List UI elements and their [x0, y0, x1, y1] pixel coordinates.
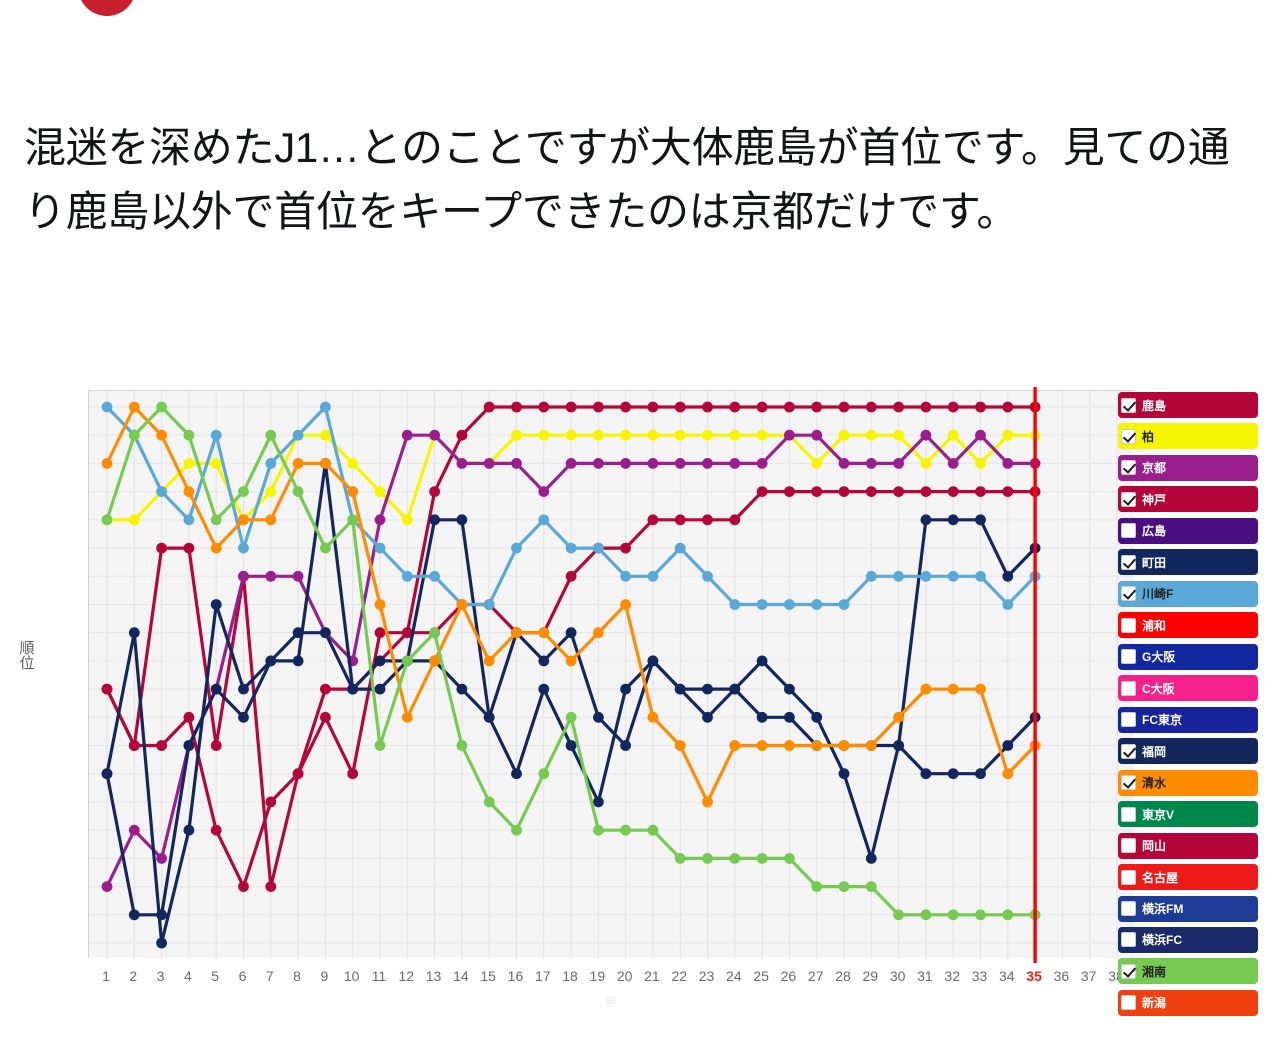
legend-item-鹿島[interactable]: 鹿島	[1118, 392, 1258, 418]
x-tick-label: 12	[393, 968, 419, 984]
page-root: 混迷を深めたJ1…とのことですが大体鹿島が首位です。見ての通り鹿島以外で首位をキ…	[0, 0, 1284, 1042]
series-line-0	[107, 407, 1035, 887]
legend-item-FC東京[interactable]: FC東京	[1118, 707, 1258, 733]
x-tick-label: 27	[803, 968, 829, 984]
legend-label: 町田	[1142, 554, 1166, 571]
x-tick-label: 16	[502, 968, 528, 984]
legend-label: 福岡	[1142, 743, 1166, 760]
x-tick-label: 35	[1021, 968, 1047, 984]
legend-label: 浦和	[1142, 617, 1166, 634]
x-tick-label: 22	[666, 968, 692, 984]
article-paragraph: 混迷を深めたJ1…とのことですが大体鹿島が首位です。見ての通り鹿島以外で首位をキ…	[24, 116, 1264, 244]
legend-label: C大阪	[1142, 680, 1175, 697]
legend-label: 横浜FC	[1142, 931, 1182, 948]
x-tick-label: 14	[448, 968, 474, 984]
x-tick-label: 23	[694, 968, 720, 984]
x-tick-label: 15	[475, 968, 501, 984]
legend-item-横浜FM[interactable]: 横浜FM	[1118, 896, 1258, 922]
x-tick-label: 37	[1076, 968, 1102, 984]
legend-item-町田[interactable]: 町田	[1118, 549, 1258, 575]
x-tick-label: 11	[366, 968, 392, 984]
legend-checkbox-icon[interactable]	[1121, 932, 1136, 947]
x-tick-label: 21	[639, 968, 665, 984]
legend-checkbox-icon[interactable]	[1121, 681, 1136, 696]
legend-checkbox-icon[interactable]	[1121, 649, 1136, 664]
x-tick-label: 7	[257, 968, 283, 984]
plot-area	[88, 390, 1134, 958]
x-tick-label: 4	[175, 968, 201, 984]
x-tick-label: 3	[148, 968, 174, 984]
legend-checkbox-icon[interactable]	[1121, 838, 1136, 853]
x-tick-label: 13	[421, 968, 447, 984]
legend-item-横浜FC[interactable]: 横浜FC	[1118, 927, 1258, 953]
x-axis-title: 節	[606, 994, 617, 1010]
red-circle-badge-icon	[78, 0, 136, 16]
legend-item-柏[interactable]: 柏	[1118, 423, 1258, 449]
x-tick-label: 18	[557, 968, 583, 984]
x-tick-label: 2	[120, 968, 146, 984]
legend-label: 川崎F	[1142, 585, 1173, 602]
legend-checkbox-icon[interactable]	[1121, 492, 1136, 507]
x-tick-label: 30	[885, 968, 911, 984]
legend-checkbox-icon[interactable]	[1121, 618, 1136, 633]
legend-item-京都[interactable]: 京都	[1118, 455, 1258, 481]
series-line-11	[107, 633, 1035, 915]
legend-label: 京都	[1142, 459, 1166, 476]
x-tick-label: 25	[748, 968, 774, 984]
legend-label: 柏	[1142, 428, 1154, 445]
team-legend[interactable]: 鹿島柏京都神戸広島町田川崎F浦和G大阪C大阪FC東京福岡清水東京V岡山名古屋横浜…	[1118, 392, 1258, 1016]
x-tick-label: 31	[912, 968, 938, 984]
legend-item-東京V[interactable]: 東京V	[1118, 801, 1258, 827]
legend-item-清水[interactable]: 清水	[1118, 770, 1258, 796]
legend-label: 東京V	[1142, 806, 1174, 823]
legend-label: 名古屋	[1142, 869, 1178, 886]
legend-label: 湘南	[1142, 963, 1166, 980]
x-tick-label: 20	[612, 968, 638, 984]
legend-label: 神戸	[1142, 491, 1166, 508]
legend-label: G大阪	[1142, 648, 1175, 665]
legend-item-岡山[interactable]: 岡山	[1118, 833, 1258, 859]
legend-item-湘南[interactable]: 湘南	[1118, 958, 1258, 984]
legend-item-G大阪[interactable]: G大阪	[1118, 644, 1258, 670]
legend-label: 広島	[1142, 522, 1166, 539]
legend-checkbox-icon[interactable]	[1121, 870, 1136, 885]
legend-item-福岡[interactable]: 福岡	[1118, 738, 1258, 764]
legend-label: FC東京	[1142, 711, 1182, 728]
x-tick-label: 34	[994, 968, 1020, 984]
legend-checkbox-icon[interactable]	[1121, 807, 1136, 822]
legend-label: 横浜FM	[1142, 900, 1183, 917]
x-tick-label: 8	[284, 968, 310, 984]
legend-checkbox-icon[interactable]	[1121, 744, 1136, 759]
x-tick-label: 6	[229, 968, 255, 984]
legend-label: 岡山	[1142, 837, 1166, 854]
legend-checkbox-icon[interactable]	[1121, 995, 1136, 1010]
legend-checkbox-icon[interactable]	[1121, 712, 1136, 727]
x-tick-label: 36	[1048, 968, 1074, 984]
x-tick-label: 26	[775, 968, 801, 984]
x-tick-label: 10	[339, 968, 365, 984]
x-tick-label: 33	[967, 968, 993, 984]
legend-checkbox-icon[interactable]	[1121, 523, 1136, 538]
x-tick-label: 1	[93, 968, 119, 984]
legend-label: 清水	[1142, 774, 1166, 791]
legend-checkbox-icon[interactable]	[1121, 398, 1136, 413]
legend-label: 新潟	[1142, 994, 1166, 1011]
x-tick-label: 29	[857, 968, 883, 984]
series-lines	[89, 391, 1134, 958]
legend-item-神戸[interactable]: 神戸	[1118, 486, 1258, 512]
x-tick-label: 9	[311, 968, 337, 984]
legend-item-新潟[interactable]: 新潟	[1118, 990, 1258, 1016]
x-tick-label: 28	[830, 968, 856, 984]
legend-label: 鹿島	[1142, 397, 1166, 414]
x-tick-label: 5	[202, 968, 228, 984]
y-axis-title: 順位	[16, 640, 37, 670]
legend-item-広島[interactable]: 広島	[1118, 518, 1258, 544]
legend-checkbox-icon[interactable]	[1121, 775, 1136, 790]
legend-item-川崎F[interactable]: 川崎F	[1118, 581, 1258, 607]
series-line-1	[107, 435, 1035, 520]
legend-checkbox-icon[interactable]	[1121, 555, 1136, 570]
legend-item-名古屋[interactable]: 名古屋	[1118, 864, 1258, 890]
x-tick-label: 32	[939, 968, 965, 984]
legend-item-C大阪[interactable]: C大阪	[1118, 675, 1258, 701]
rank-transition-chart: 順位 1234567891011121314151617181920 12345…	[60, 372, 1260, 1022]
x-tick-label: 17	[530, 968, 556, 984]
legend-checkbox-icon[interactable]	[1121, 964, 1136, 979]
legend-checkbox-icon[interactable]	[1121, 429, 1136, 444]
x-tick-label: 24	[721, 968, 747, 984]
legend-checkbox-icon[interactable]	[1121, 460, 1136, 475]
legend-checkbox-icon[interactable]	[1121, 901, 1136, 916]
legend-checkbox-icon[interactable]	[1121, 586, 1136, 601]
legend-item-浦和[interactable]: 浦和	[1118, 612, 1258, 638]
x-tick-label: 19	[584, 968, 610, 984]
